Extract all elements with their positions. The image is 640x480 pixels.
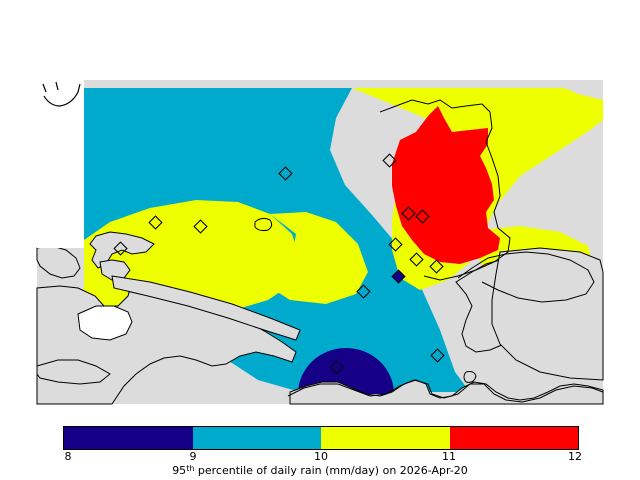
colorbar-tick-2: 10 [314, 450, 328, 463]
inland-northwest [37, 80, 84, 248]
colorbar-band-11-12[interactable] [450, 427, 579, 449]
map-container[interactable] [0, 0, 640, 412]
colorbar-area[interactable]: 8 9 10 11 12 95th percentile of daily ra… [0, 420, 640, 480]
colorbar-tick-4: 12 [568, 450, 582, 463]
colorbar-tick-3: 11 [442, 450, 456, 463]
colorbar-caption: 95th percentile of daily rain (mm/day) o… [0, 464, 640, 477]
contour-map[interactable] [0, 0, 640, 412]
colorbar-band-10-11[interactable] [321, 427, 450, 449]
colorbar[interactable] [63, 426, 579, 450]
colorbar-band-9-10[interactable] [193, 427, 322, 449]
caption-rest: percentile of daily rain (mm/day) on 202… [194, 464, 467, 477]
weather-map-page: VictoriaWeather.ca -- Summer Total Daily… [0, 0, 640, 480]
colorbar-band-8-9[interactable] [64, 427, 193, 449]
caption-percentile-number: 95 [172, 464, 186, 477]
colorbar-tick-0: 8 [65, 450, 72, 463]
colorbar-tick-1: 9 [190, 450, 197, 463]
